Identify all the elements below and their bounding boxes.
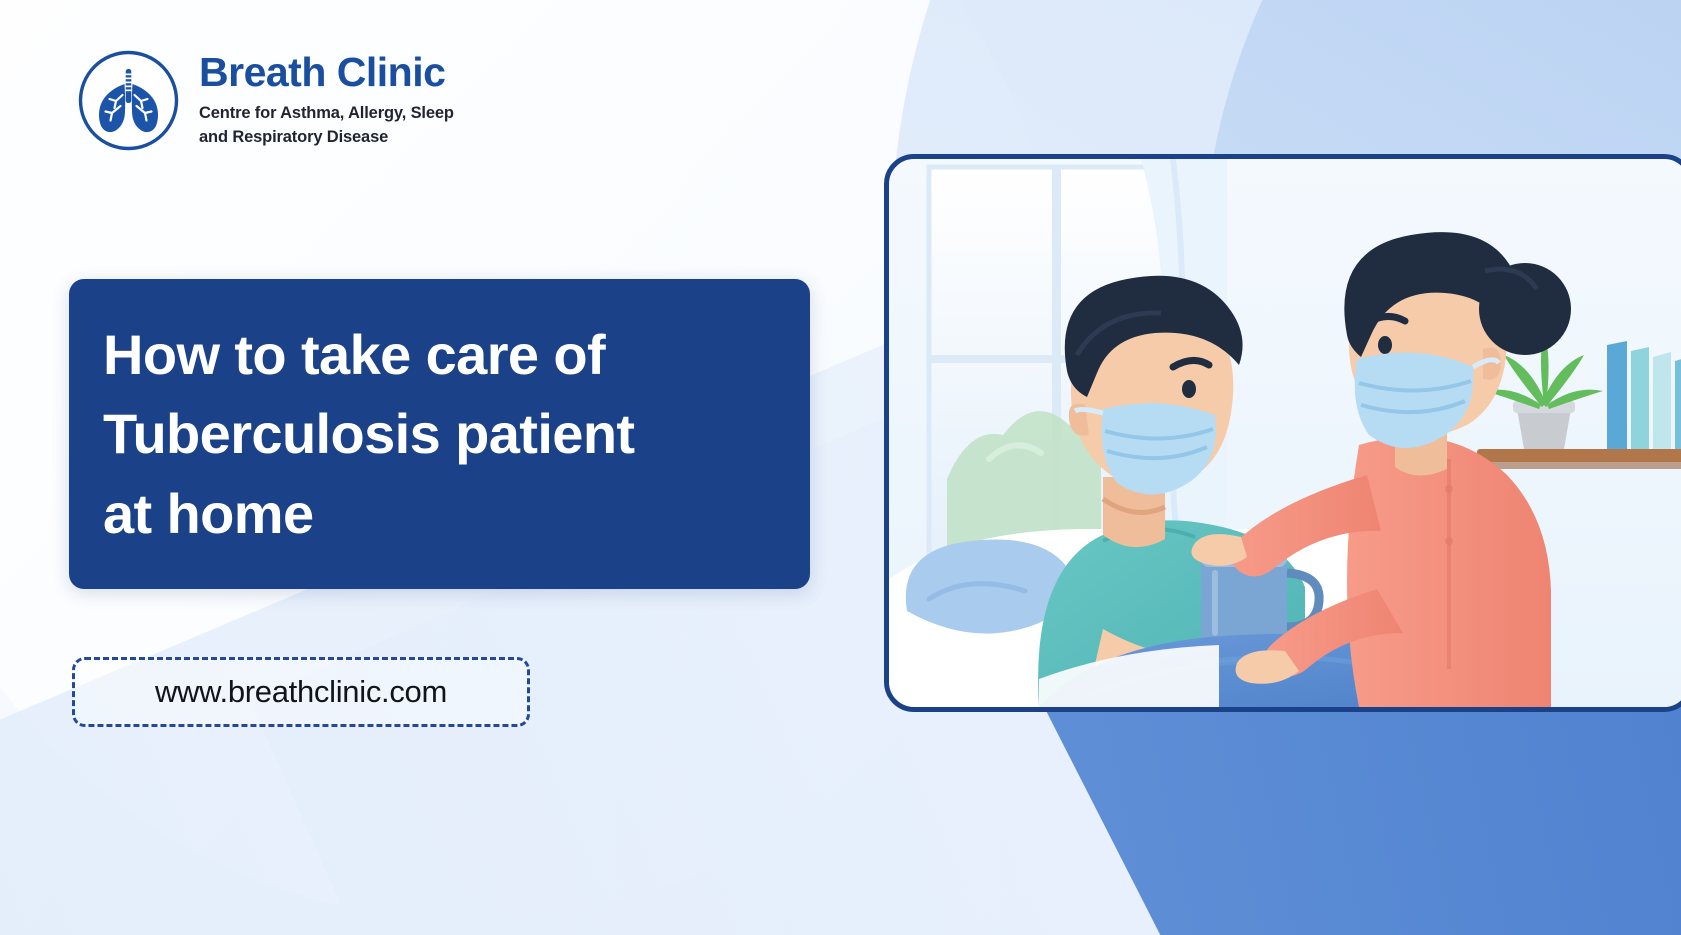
caregiver-eye (1378, 336, 1392, 354)
brand-tagline: Centre for Asthma, Allergy, Sleep and Re… (199, 102, 479, 150)
brand-text-block: Breath Clinic Centre for Asthma, Allergy… (199, 52, 479, 150)
website-url-text: www.breathclinic.com (155, 674, 447, 710)
brand-logo-lockup[interactable]: Breath Clinic Centre for Asthma, Allergy… (76, 48, 479, 153)
illustration-frame (884, 154, 1681, 712)
headline-card: How to take care of Tuberculosis patient… (69, 279, 810, 589)
website-url-pill[interactable]: www.breathclinic.com (72, 657, 530, 727)
page-title-line-1: How to take care of (103, 315, 635, 395)
caregiver-patient-illustration (889, 159, 1681, 707)
brand-name: Breath Clinic (199, 52, 479, 93)
page-title: How to take care of Tuberculosis patient… (69, 315, 635, 554)
page-title-line-2: Tuberculosis patient (103, 394, 635, 474)
page-title-line-3: at home (103, 474, 635, 554)
patient-eye (1182, 380, 1196, 398)
books (1607, 341, 1681, 449)
lungs-in-circle-icon (76, 48, 181, 153)
banner-canvas: Breath Clinic Centre for Asthma, Allergy… (0, 0, 1681, 935)
